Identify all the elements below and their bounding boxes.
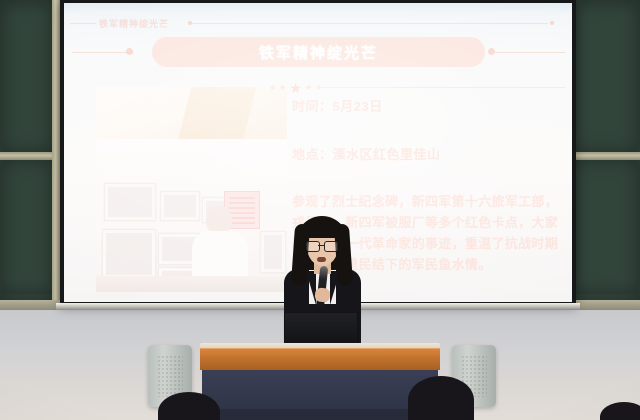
photo-frame (104, 183, 156, 221)
slide-star-divider: ★ ★ ★ ★ ★ (269, 81, 322, 95)
star-icon: ★ (315, 84, 322, 92)
slide-header-rule-left (70, 23, 96, 24)
chalkboard-ledge-left (0, 300, 62, 310)
slide-title-rule-left (72, 52, 134, 53)
slide-title-text: 铁军精神绽光芒 (259, 42, 378, 63)
chalkboard-left-pane-top (2, 2, 52, 152)
slide-header-dot-right (550, 21, 554, 25)
audience-head (408, 376, 474, 420)
podium-base (212, 409, 428, 420)
chalkboard-right (570, 0, 640, 306)
star-icon: ★ (279, 84, 286, 92)
slide-place-label: 地点：溧水区红色里佳山 (292, 144, 441, 163)
chalkboard-right-divider (570, 152, 640, 160)
podium-wood-panel (200, 348, 440, 370)
slide-title-pill: 铁军精神绽光芒 (152, 37, 485, 67)
slide-time-label: 时间：5月23日 (292, 96, 383, 115)
presenter-mouth (317, 257, 326, 262)
slide-title-dot-left (126, 48, 133, 55)
laptop (285, 313, 357, 345)
podium (200, 343, 440, 420)
podium-body (202, 370, 438, 410)
presenter-hair-strand-right (334, 224, 353, 287)
star-icon: ★ (289, 81, 302, 95)
screenshot-root: 铁军精神绽光芒 铁军精神绽光芒 (0, 0, 640, 420)
chalkboard-right-pane-bottom (572, 160, 638, 294)
photo-floor (96, 276, 287, 292)
slide-title-rule-right (494, 52, 566, 53)
slide-header-rule-right (192, 23, 548, 24)
presenter-lapel-left (306, 271, 316, 305)
glasses-icon (306, 241, 320, 252)
photo-frame (102, 229, 156, 279)
chalkboard-right-pane-top (572, 2, 638, 152)
chalkboard-left-pane-bottom (2, 160, 52, 294)
speaker-grille (157, 355, 183, 397)
slide-top-band (64, 3, 572, 13)
slide-star-rule (319, 87, 565, 88)
star-icon: ★ (305, 84, 312, 92)
chalkboard-left (0, 0, 54, 306)
slide-mini-header: 铁军精神绽光芒 (99, 17, 169, 30)
chalkboard-left-divider (0, 152, 54, 160)
glasses-icon (324, 241, 338, 252)
glasses-bridge (318, 245, 325, 246)
star-icon: ★ (269, 84, 276, 92)
slide-photo (96, 87, 287, 292)
